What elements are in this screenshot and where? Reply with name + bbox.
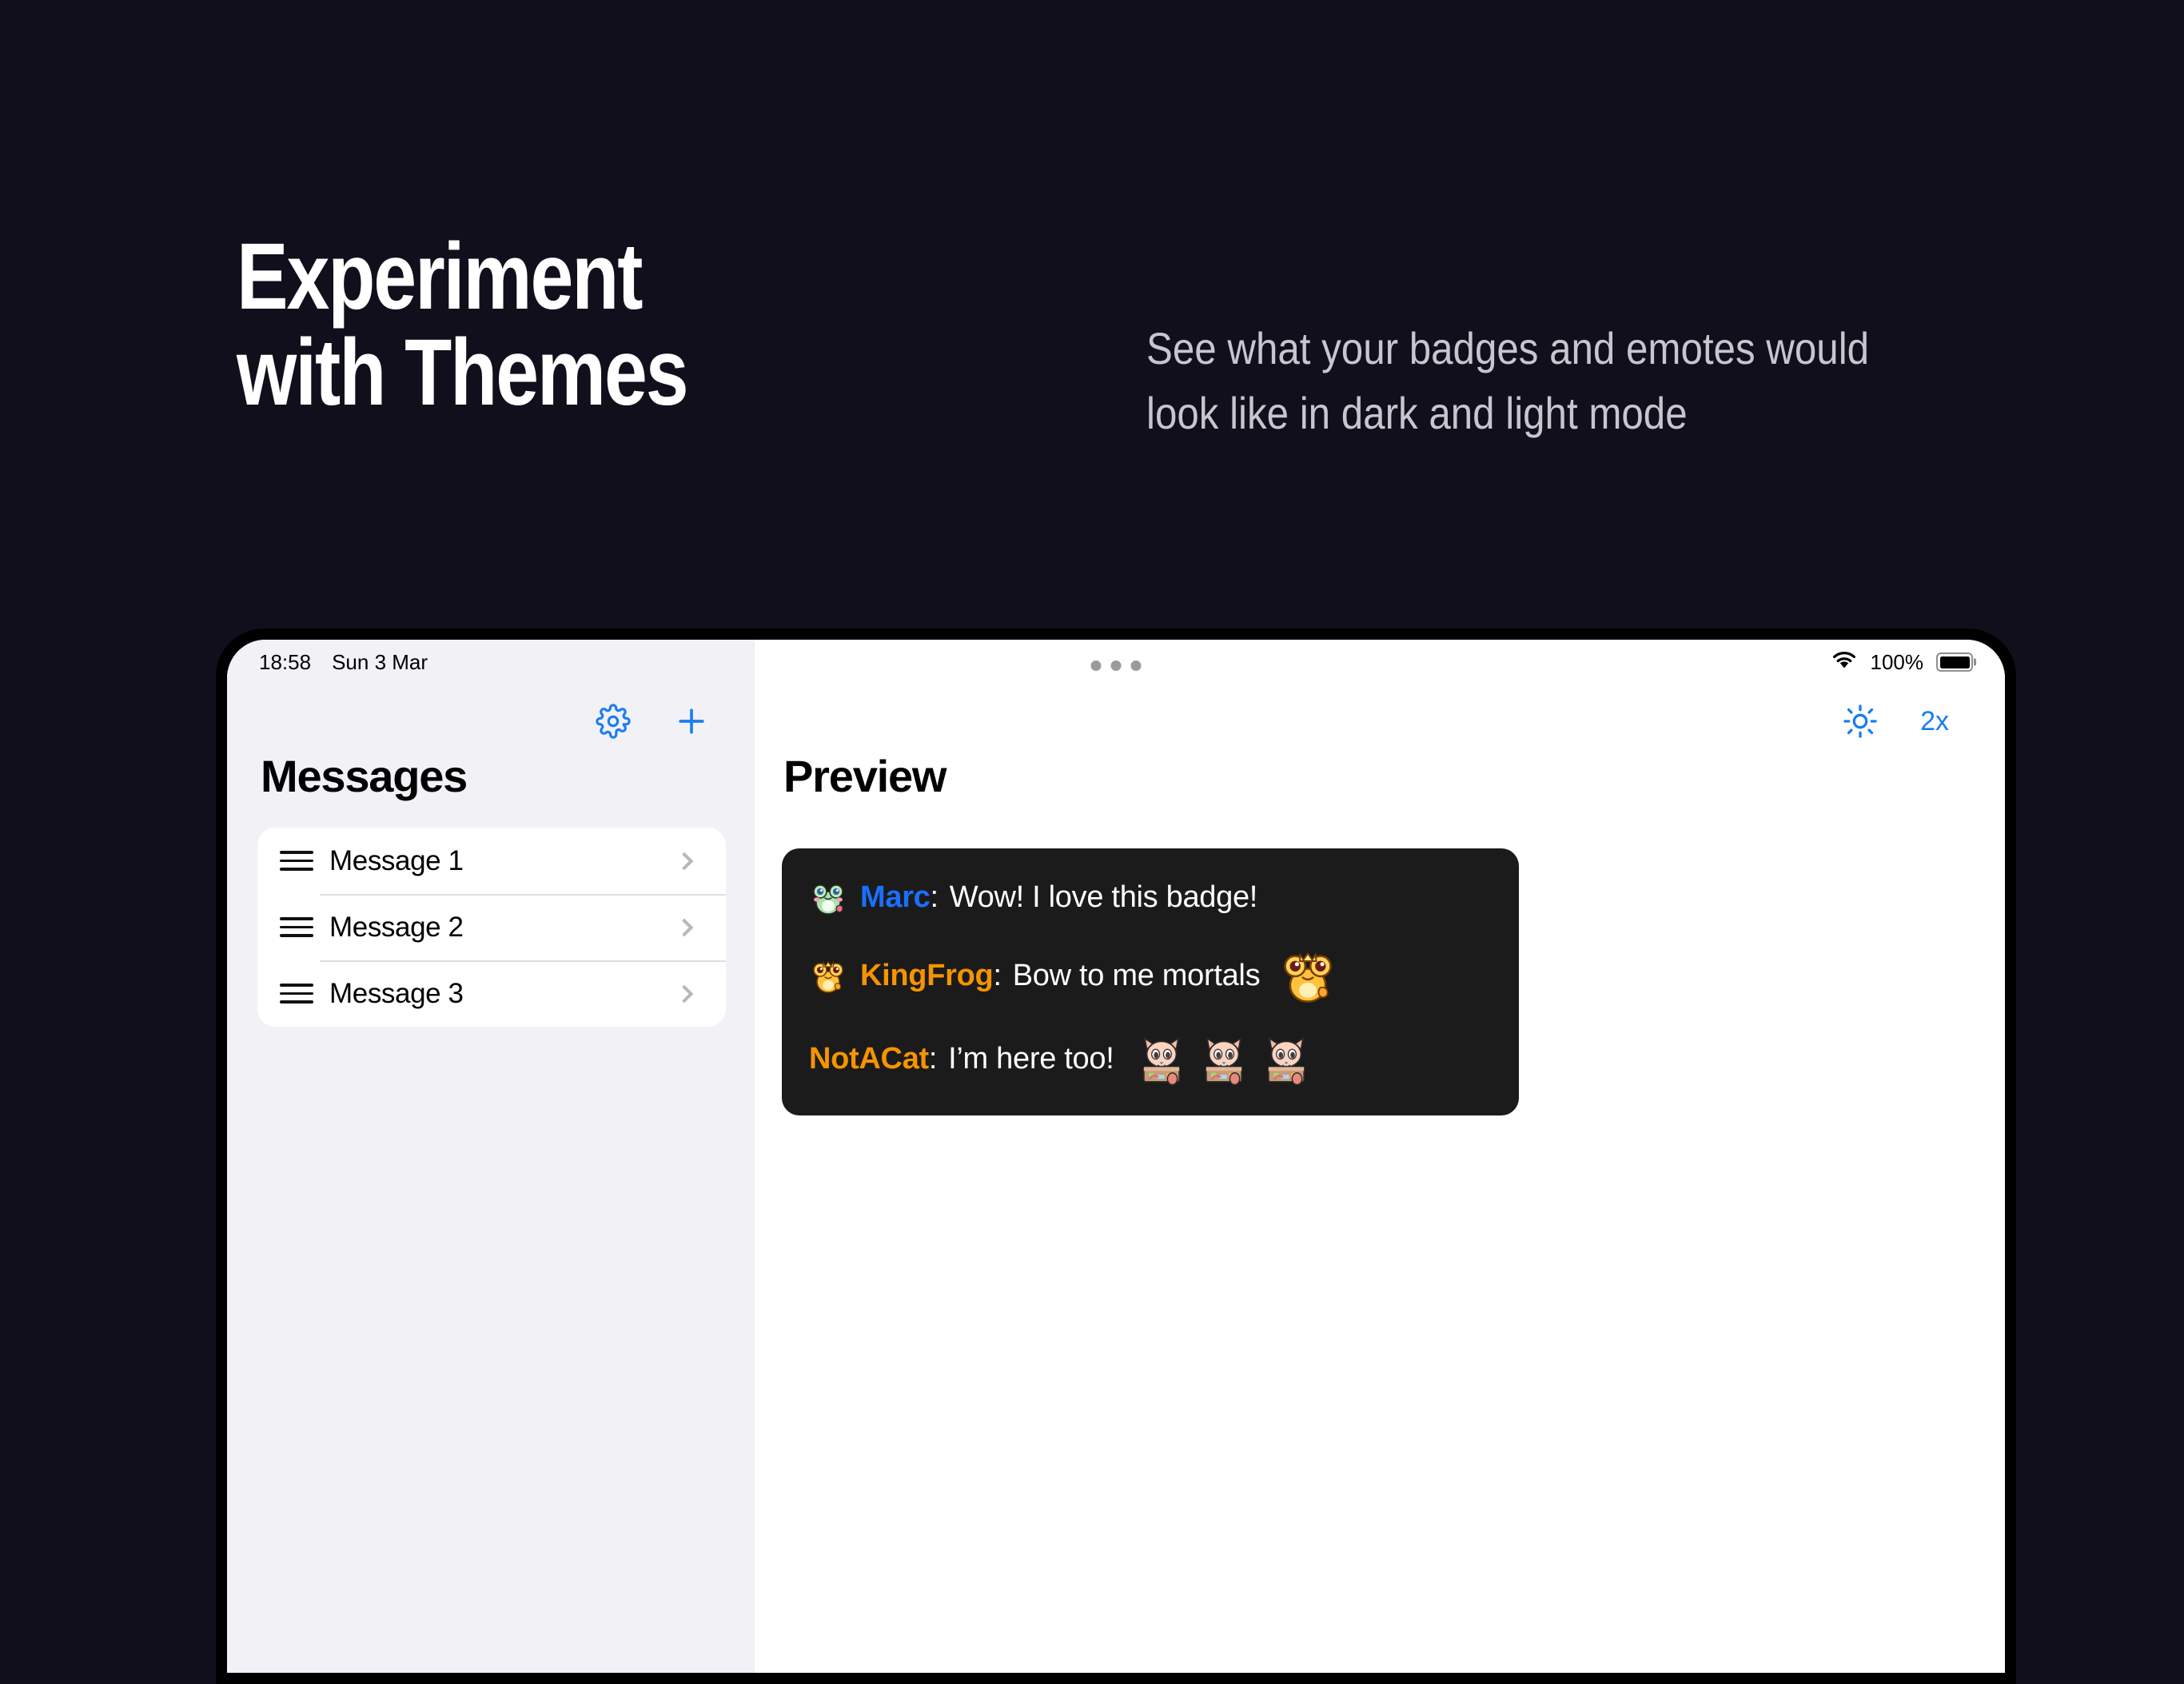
list-item-label: Message 2 (329, 912, 678, 944)
tablet-screen: 18:58 Sun 3 Mar 100% (227, 640, 2005, 1673)
sidebar: Messages Message 1 Message 2 Message 3 (227, 640, 755, 1673)
drag-handle-icon[interactable] (280, 984, 313, 1004)
list-item-label: Message 3 (329, 978, 678, 1010)
chat-preview-card: Marc : Wow! I love this badge! (782, 848, 1519, 1115)
tablet-device-frame: 18:58 Sun 3 Mar 100% (216, 629, 2016, 1684)
sidebar-heading: Messages (227, 744, 755, 802)
list-item[interactable]: Message 3 (257, 960, 726, 1027)
king-frog-badge-icon (809, 957, 847, 996)
chat-username: Marc (860, 882, 931, 914)
chat-message-text: Bow to me mortals (1013, 960, 1261, 992)
hero-subtitle: See what your badges and emotes would lo… (1146, 316, 1920, 445)
detail-heading: Preview (755, 744, 2005, 802)
chat-message-text: I’m here too! (948, 1044, 1114, 1075)
drag-handle-icon[interactable] (280, 851, 313, 871)
green-frog-badge-icon (809, 879, 847, 917)
list-item[interactable]: Message 1 (257, 828, 726, 894)
sidebar-toolbar (227, 684, 755, 744)
zoom-level-button[interactable]: 2x (1920, 706, 1949, 737)
king-frog-emote-icon (1277, 946, 1338, 1007)
chat-emote-group (1131, 1036, 1310, 1083)
page-title: Experiment with Themes (237, 229, 774, 421)
chat-message-row: Marc : Wow! I love this badge! (809, 879, 1492, 917)
chat-username: KingFrog (860, 960, 993, 992)
chat-message-text: Wow! I love this badge! (950, 882, 1257, 914)
detail-toolbar: 2x (755, 684, 2005, 744)
chat-message-row: KingFrog : Bow to me mortals (809, 946, 1492, 1007)
gear-icon[interactable] (595, 703, 632, 740)
list-item-label: Message 1 (329, 845, 678, 877)
chat-separator: : (993, 960, 1001, 992)
cat-box-emote-icon (1138, 1036, 1186, 1083)
message-list: Message 1 Message 2 Message 3 (257, 828, 726, 1027)
chevron-right-icon (676, 984, 694, 1003)
chat-message-row: NotACat : I’m here too! (809, 1036, 1492, 1083)
plus-icon[interactable] (673, 703, 710, 740)
cat-box-emote-icon (1262, 1036, 1310, 1083)
drag-handle-icon[interactable] (280, 917, 313, 937)
sun-icon[interactable] (1842, 703, 1879, 740)
detail-pane: 2x Preview (755, 640, 2005, 1673)
chevron-right-icon (676, 918, 694, 936)
chevron-right-icon (676, 852, 694, 870)
chat-username: NotACat (809, 1044, 929, 1075)
hero-section: Experiment with Themes (237, 229, 892, 421)
list-item[interactable]: Message 2 (257, 894, 726, 960)
chat-separator: : (931, 882, 939, 914)
chat-separator: : (929, 1044, 937, 1075)
cat-box-emote-icon (1200, 1036, 1248, 1083)
